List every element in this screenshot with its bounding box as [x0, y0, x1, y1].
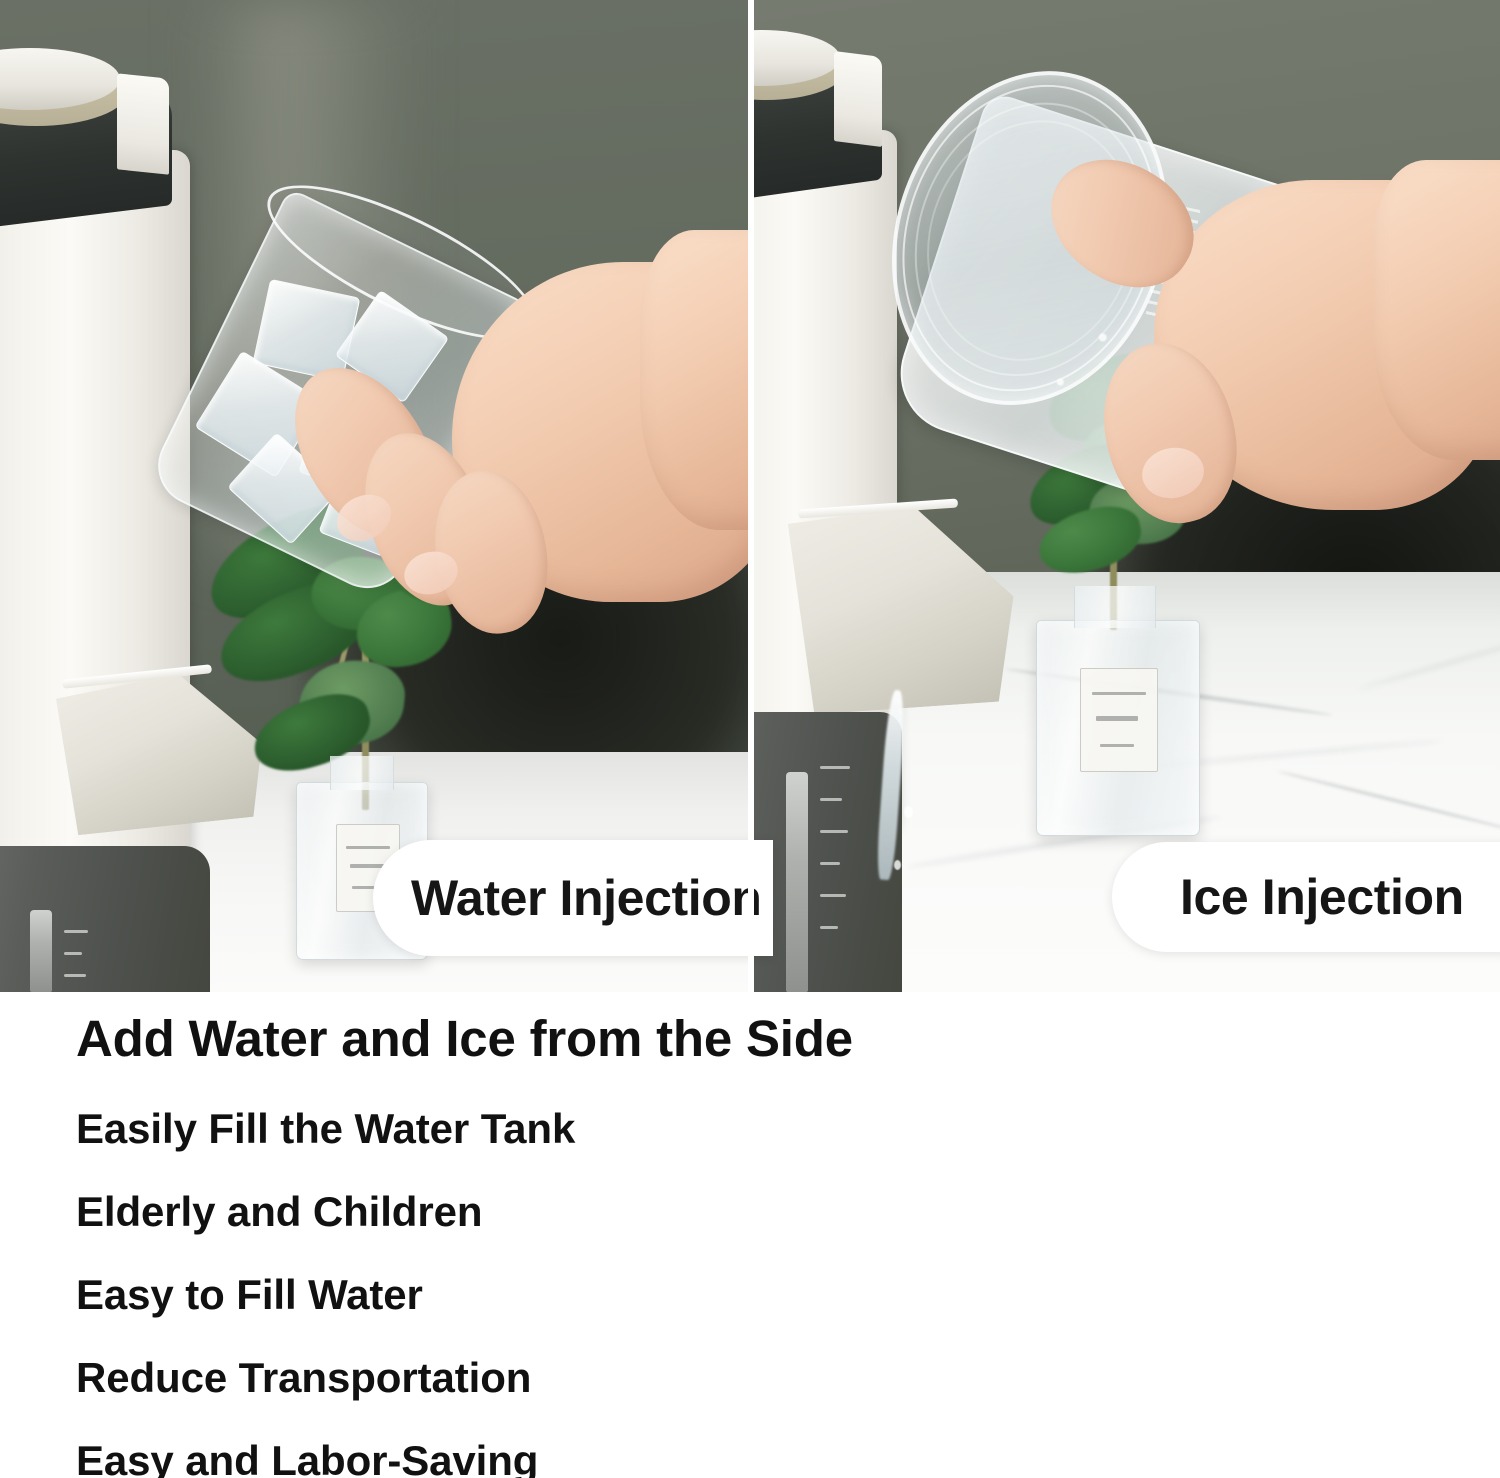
vase-label-line [1096, 716, 1138, 721]
feature-item-5: Easy and Labor-Saving [76, 1437, 538, 1478]
vase-label-line [350, 864, 384, 868]
photo-strip: Water Injection Ice Injection [0, 0, 1500, 992]
product-feature-graphic: Water Injection Ice Injection Add Water … [0, 0, 1500, 1478]
wrist [1374, 160, 1500, 460]
gauge-tick [820, 766, 850, 769]
gauge-tick [64, 952, 82, 955]
caption-pill-ice-injection: Ice Injection [1112, 842, 1500, 952]
water-droplet [894, 860, 901, 870]
vase-label-line [1092, 692, 1146, 695]
dispenser-lid-hinge [117, 73, 169, 174]
feature-text-block: Add Water and Ice from the Side Easily F… [0, 992, 1500, 1478]
gauge-tick [64, 930, 88, 933]
dispenser-lid-hinge [834, 51, 882, 147]
caption-label-left: Water Injection [411, 869, 762, 927]
vase-label-line [346, 846, 390, 849]
water-droplet [904, 806, 913, 818]
caption-label-right: Ice Injection [1180, 868, 1464, 926]
feature-item-3: Easy to Fill Water [76, 1271, 423, 1319]
feature-item-4: Reduce Transportation [76, 1354, 531, 1402]
gauge-tick [820, 894, 846, 897]
gauge-tick [820, 830, 848, 833]
gauge-tick [820, 862, 840, 865]
feature-item-1: Easily Fill the Water Tank [76, 1105, 575, 1153]
water-level-gauge [786, 772, 808, 992]
panel-divider [748, 0, 754, 992]
caption-pill-water-injection: Water Injection [373, 840, 773, 956]
gauge-tick [820, 926, 838, 929]
water-level-gauge [30, 910, 52, 992]
gauge-tick [820, 798, 842, 801]
feature-item-2: Elderly and Children [76, 1188, 482, 1236]
gauge-tick [64, 974, 86, 977]
headline: Add Water and Ice from the Side [76, 1009, 853, 1068]
glass-vase-neck [330, 756, 394, 790]
vase-label-line [1100, 744, 1134, 747]
